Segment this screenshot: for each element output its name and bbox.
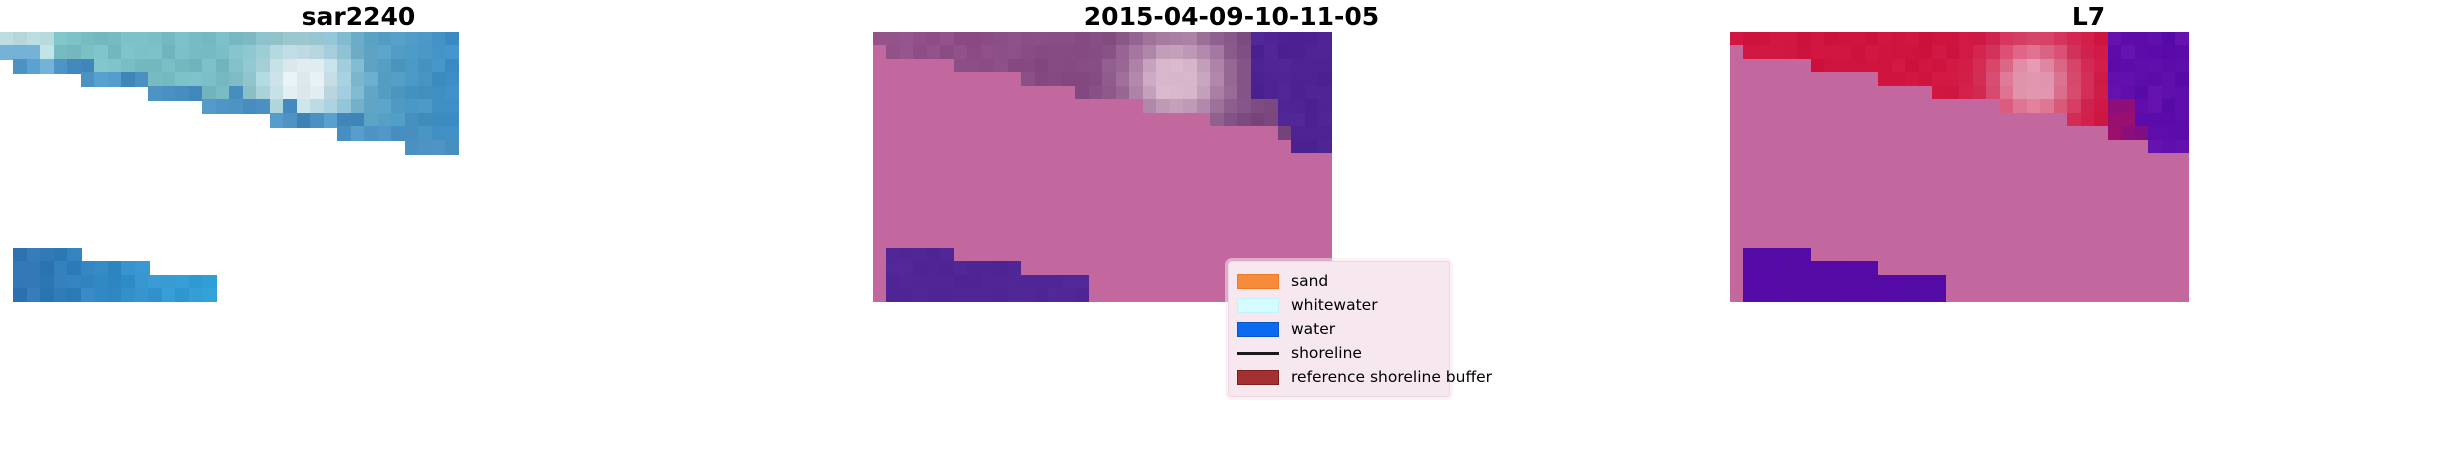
panel-title-classified: 2015-04-09-10-11-05 bbox=[873, 3, 1590, 31]
legend-swatch-shoreline-icon bbox=[1237, 352, 1279, 355]
panel-l7: L7 bbox=[1730, 0, 2447, 469]
panel-classified: 2015-04-09-10-11-05 bbox=[873, 0, 1590, 469]
panel-sar2240: sar2240 bbox=[0, 0, 717, 469]
legend-label-water: water bbox=[1291, 321, 1335, 338]
figure-root: sar2240 2015-04-09-10-11-05 L7 sand whit… bbox=[0, 0, 2460, 469]
panel-image-l7 bbox=[1730, 32, 2189, 302]
legend-label-reference-shoreline-buffer: reference shoreline buffer bbox=[1291, 369, 1492, 386]
legend-item-sand: sand bbox=[1237, 269, 1440, 293]
legend-label-whitewater: whitewater bbox=[1291, 297, 1378, 314]
legend: sand whitewater water shoreline referenc… bbox=[1228, 261, 1450, 397]
panel-title-sar2240: sar2240 bbox=[0, 3, 717, 31]
panel-title-l7: L7 bbox=[1730, 3, 2447, 31]
legend-item-whitewater: whitewater bbox=[1237, 293, 1440, 317]
legend-label-sand: sand bbox=[1291, 273, 1328, 290]
legend-item-reference-shoreline-buffer: reference shoreline buffer bbox=[1237, 365, 1440, 389]
legend-swatch-water-icon bbox=[1237, 322, 1279, 337]
legend-swatch-sand-icon bbox=[1237, 274, 1279, 289]
panel-image-sar2240 bbox=[0, 32, 459, 302]
legend-swatch-reference-shoreline-buffer-icon bbox=[1237, 370, 1279, 385]
legend-label-shoreline: shoreline bbox=[1291, 345, 1362, 362]
legend-item-water: water bbox=[1237, 317, 1440, 341]
legend-item-shoreline: shoreline bbox=[1237, 341, 1440, 365]
legend-swatch-whitewater-icon bbox=[1237, 298, 1279, 313]
